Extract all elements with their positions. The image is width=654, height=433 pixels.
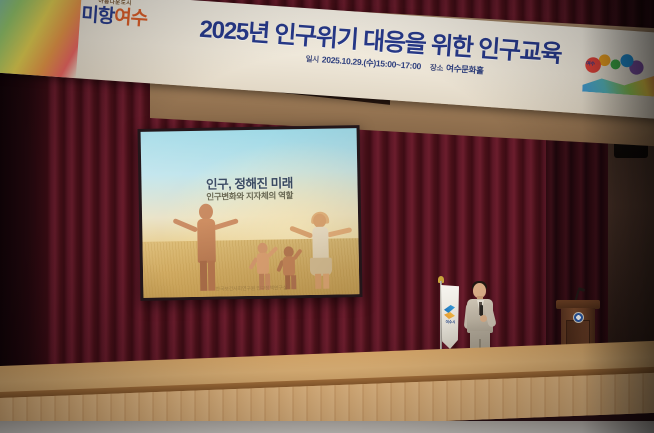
- silhouette-mother: [293, 214, 354, 289]
- auditorium-scene: 아름다운도시 미항여수 2025년 인구위기 대응을 위한 인구교육 일시202…: [0, 0, 654, 433]
- city-emblem-label: 여수: [586, 60, 595, 68]
- city-logo: 아름다운도시 미항여수: [59, 0, 170, 44]
- banner-place-label: 장소: [430, 63, 444, 73]
- presenter-hand: [480, 315, 487, 322]
- slide-content: 인구, 정해진 미래 인구변화와 지자체의 역할 한국보건사회연구원 인구정책연…: [141, 128, 360, 298]
- podium-seal-icon: [573, 312, 584, 323]
- city-emblem-icon: 여수: [580, 42, 654, 99]
- banner-place-value: 여수문화홀: [446, 63, 484, 76]
- flag-label: 여수시: [443, 320, 458, 325]
- silhouette-father: [176, 204, 235, 291]
- hall-floor: [0, 421, 654, 433]
- projection-screen: 인구, 정해진 미래 인구변화와 지자체의 역할 한국보건사회연구원 인구정책연…: [138, 125, 363, 301]
- banner-datetime-label: 일시: [305, 54, 319, 64]
